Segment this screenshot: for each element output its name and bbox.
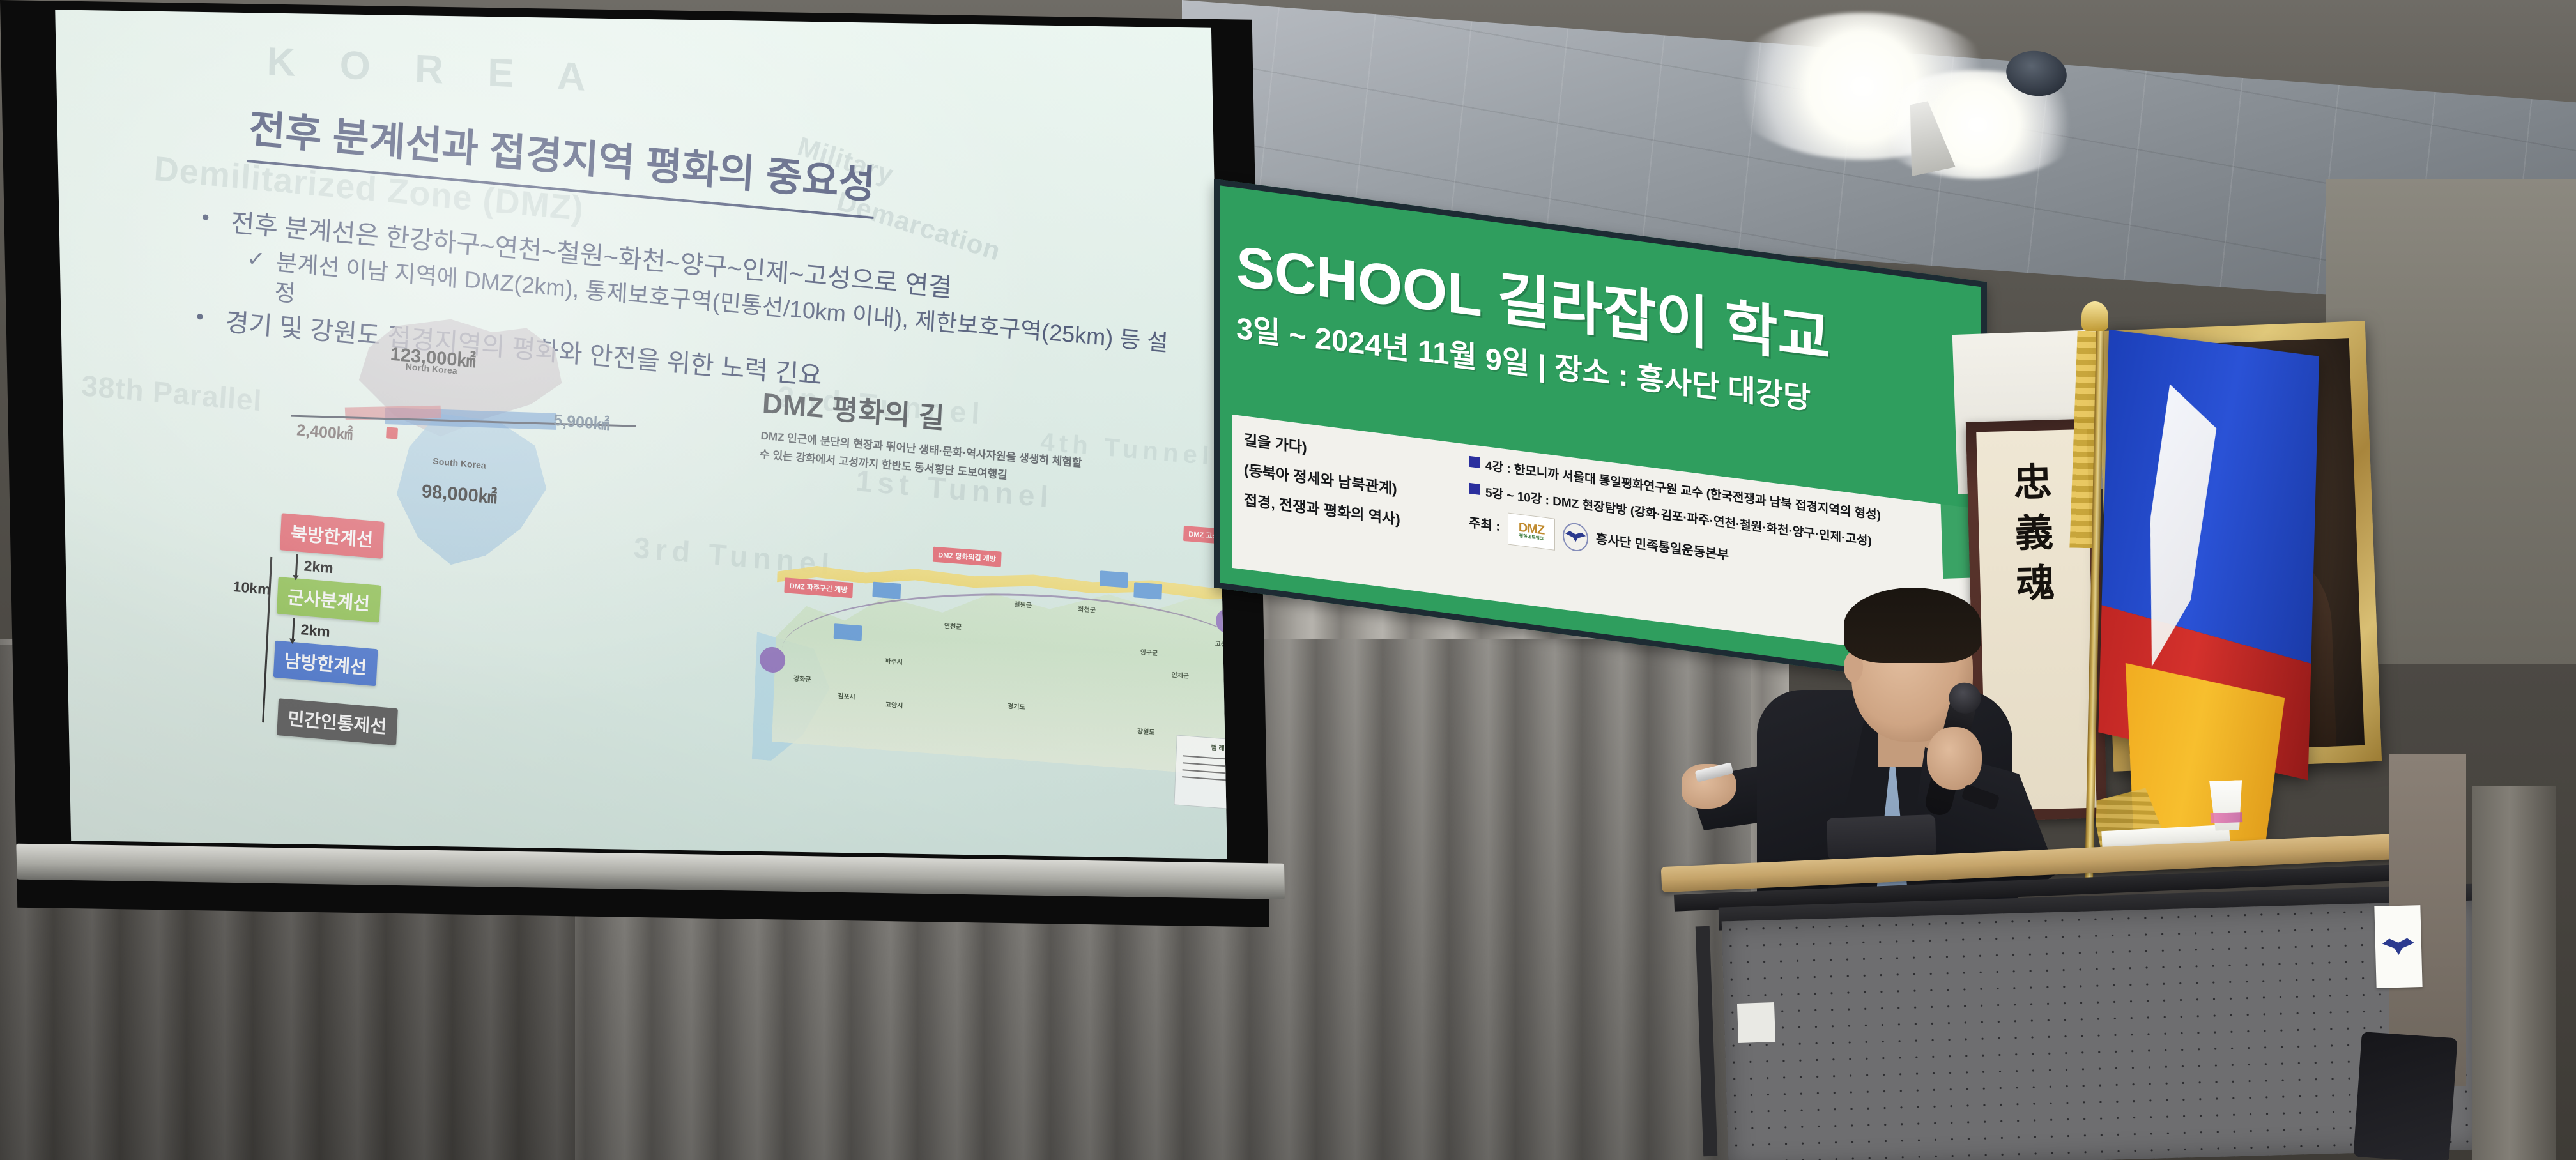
watermark-korea: K O R E A [266,39,602,102]
slide-title: 전후 분계선과 접경지역 평화의 중요성 [247,96,877,219]
watermark-parallel: 38th Parallel [80,368,263,418]
heungsadan-sticker [2374,905,2422,988]
legend-line [1183,755,1227,761]
belt-tag-blue [834,623,862,641]
belt-region-name: 경기도 [1008,701,1025,712]
legend-line [1183,762,1227,768]
belt-region-name: 강원도 [1137,726,1155,736]
belt-region-name: 철원군 [1014,599,1032,609]
legend-civilian-line-wrap: 민간인통제선 [277,698,397,745]
belt-legend-title: 범 례 [1177,740,1227,756]
belt-region-name: 양구군 [1140,646,1158,657]
belt-region-name: 김포시 [838,691,855,701]
belt-region-name: 연천군 [944,620,962,631]
depth-label: 10km [233,578,271,599]
projected-slide: K O R E A Demilitarized Zone (DMZ) Milit… [55,10,1227,859]
belt-tag-blue [872,582,901,599]
organization-flag [2095,330,2320,865]
flag-pole-finial [2081,301,2108,331]
banner-left-column: 길을 가다) (동북아 정세와 남북관계) 접경, 전쟁과 평화의 역사) [1244,425,1455,587]
slide-content: K O R E A Demilitarized Zone (DMZ) Milit… [55,10,1227,859]
belt-map-legend: 범 례 [1174,735,1227,811]
legend-civilian-line: 민간인통제선 [277,698,397,745]
legend-south-limit: 남방한계선 [273,641,378,687]
belt-tag-open: DMZ 평화의길 개방 [933,547,1002,567]
dmz-belt-map: DMZ 파주구간 개방 DMZ 평화의길 개방 DMZ 고성구간 개방 범 례 [751,479,1227,817]
belt-region-name: 고양시 [885,699,903,710]
bird-glyph [2382,938,2415,955]
mdl-legend-block: 10km 북방한계선 2km 군사분계선 2km 남방한계선 민간인통제선 [273,513,613,706]
bullet-marker: • [201,204,232,234]
calligraphy-char: 義 [2014,515,2053,553]
podium-leg [1696,926,1718,1157]
heungsadan-bird-icon [1563,521,1588,553]
belt-region-name: 고성군 [1215,638,1227,649]
black-bag [2353,1032,2457,1160]
bullet-marker: ✓ [246,245,277,275]
projection-screen: K O R E A Demilitarized Zone (DMZ) Milit… [0,0,1269,927]
right-column-post [2472,786,2556,1160]
square-bullet-icon [1469,483,1480,495]
legend-north-limit: 북방한계선 [280,513,385,559]
speaker-hair [1844,588,1981,663]
lecture-hall-scene: K O R E A Demilitarized Zone (DMZ) Milit… [0,0,2576,1160]
gap-arrow-icon [295,554,298,576]
area-color-chip [386,427,398,439]
speaker-left-hand [1927,727,1982,790]
host-name: 흥사단 민족통일운동본부 [1596,528,1729,567]
legend-line [1183,769,1227,775]
bullet-marker: • [195,303,226,333]
legend-mdl: 군사분계선 [277,577,381,623]
gap-arrow-icon [292,618,295,639]
legend-line [1182,776,1227,782]
square-bullet-icon [1469,456,1480,468]
belt-tag-blue [1133,582,1162,599]
cup-label-band [2211,812,2243,823]
belt-tag-paju: DMZ 파주구간 개방 [784,577,853,598]
dmz-network-logo: DMZ 평화네트워크 [1508,512,1555,550]
belt-region-name: 강화군 [793,673,811,683]
calligraphy-char: 忠 [2013,464,2052,502]
dmz-area-label: 5,900㎢ [553,408,610,435]
belt-region-name: 파주시 [885,655,903,666]
belt-region-name: 인제군 [1171,669,1189,680]
belt-region-name: 화천군 [1078,604,1096,614]
gap-label: 2km [300,621,330,641]
westsea-area-label: 2,400㎢ [296,417,353,445]
gap-label: 2km [303,557,333,577]
host-label: 주최 : [1469,512,1500,538]
podium-info-label [1737,1002,1775,1043]
belt-tag-blue [1100,570,1128,588]
